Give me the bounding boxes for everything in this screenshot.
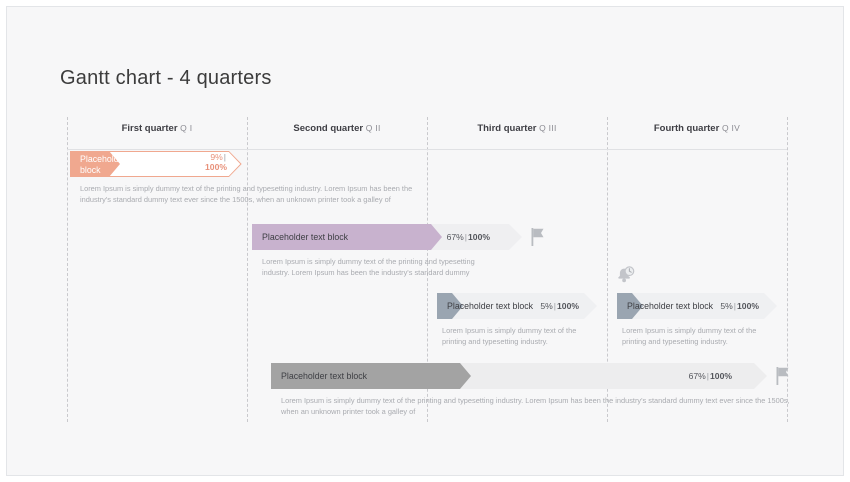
task-bar-4-progress: 5%	[720, 301, 732, 311]
task-bar-2-total: 100%	[468, 232, 490, 242]
task-bar-3-percent: 5%|100%	[540, 293, 579, 319]
task-bar-5-total: 100%	[710, 371, 732, 381]
column-divider-q1-q2	[247, 117, 248, 422]
flag-icon[interactable]	[775, 367, 791, 385]
quarter-name-q4: Fourth quarter	[654, 123, 719, 134]
task-bar-4-percent: 5%|100%	[720, 293, 759, 319]
task-bar-4-label: Placeholder text block	[627, 293, 713, 319]
quarter-name-q1: First quarter	[122, 123, 178, 134]
task-description-4: Lorem Ipsum is simply dummy text of the …	[622, 325, 762, 347]
task-bar-5-label: Placeholder text block	[281, 363, 367, 389]
quarter-header-q3: Third quarter Q III	[427, 123, 607, 143]
quarter-numeral-q1: Q I	[180, 123, 192, 133]
quarter-header-q2: Second quarter Q II	[247, 123, 427, 143]
task-bar-1-separator: |	[223, 152, 227, 162]
task-bar-2[interactable]: Placeholder text block 67%|100%	[252, 224, 522, 250]
gantt-grid: First quarter Q I Second quarter Q II Th…	[67, 117, 787, 422]
task-bar-5[interactable]: Placeholder text block 67%|100%	[271, 363, 767, 389]
task-bar-5-progress: 67%	[689, 371, 706, 381]
task-bar-1[interactable]: Placeholder text block 9%| 100%	[70, 151, 242, 177]
task-bar-5-percent: 67%|100%	[689, 363, 732, 389]
task-bar-1-label: Placeholder text block	[80, 154, 150, 176]
task-bar-2-label: Placeholder text block	[262, 224, 348, 250]
task-bar-1-total: 100%	[205, 162, 227, 172]
column-divider-left	[67, 117, 68, 422]
alarm-icon[interactable]	[615, 265, 635, 285]
quarter-numeral-q3: Q III	[539, 123, 557, 133]
quarter-header-q1: First quarter Q I	[67, 123, 247, 143]
task-description-3: Lorem Ipsum is simply dummy text of the …	[442, 325, 582, 347]
slide-canvas: Gantt chart - 4 quarters First quarter Q…	[6, 6, 844, 476]
page-title: Gantt chart - 4 quarters	[60, 67, 272, 90]
task-bar-2-percent: 67%|100%	[447, 224, 490, 250]
task-bar-1-progress: 9%	[210, 152, 222, 162]
quarter-name-q3: Third quarter	[477, 123, 536, 134]
quarter-numeral-q2: Q II	[366, 123, 381, 133]
task-bar-3-label: Placeholder text block	[447, 293, 533, 319]
task-bar-3-progress: 5%	[540, 301, 552, 311]
task-description-5: Lorem Ipsum is simply dummy text of the …	[281, 395, 791, 417]
quarter-name-q2: Second quarter	[293, 123, 363, 134]
task-bar-2-progress: 67%	[447, 232, 464, 242]
header-rule	[67, 149, 787, 150]
task-bar-3[interactable]: Placeholder text block 5%|100%	[437, 293, 597, 319]
quarter-header-q4: Fourth quarter Q IV	[607, 123, 787, 143]
task-bar-3-total: 100%	[557, 301, 579, 311]
flag-icon[interactable]	[530, 228, 546, 246]
task-description-1: Lorem Ipsum is simply dummy text of the …	[80, 183, 435, 205]
task-description-2: Lorem Ipsum is simply dummy text of the …	[262, 256, 492, 278]
task-bar-4-total: 100%	[737, 301, 759, 311]
task-bar-1-percent: 9%| 100%	[197, 153, 227, 172]
task-bar-4[interactable]: Placeholder text block 5%|100%	[617, 293, 777, 319]
quarter-numeral-q4: Q IV	[722, 123, 740, 133]
